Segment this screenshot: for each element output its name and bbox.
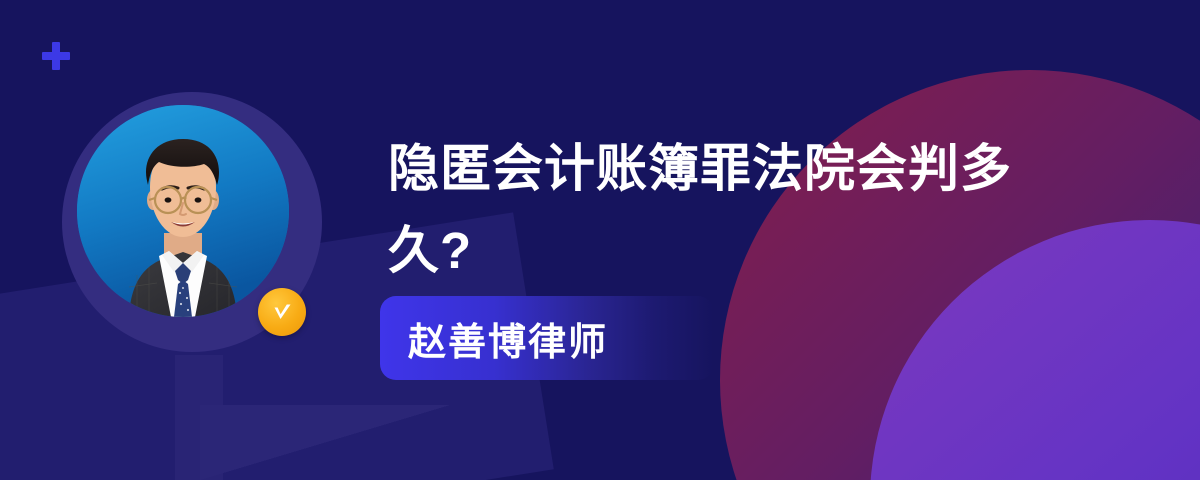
lawyer-question-banner: 隐匿会计账簿罪法院会判多久? 赵善博律师 [0,0,1200,480]
decorative-vertical-band [175,355,223,480]
decorative-triangle-bottom [200,405,450,480]
page-title: 隐匿会计账簿罪法院会判多久? [388,128,1078,292]
plus-icon-horizontal-bar [42,52,70,60]
lawyer-name-label: 赵善博律师 [408,311,608,366]
verified-check-icon [258,288,306,336]
lawyer-name-badge[interactable]: 赵善博律师 [380,296,714,380]
avatar[interactable] [62,92,322,352]
avatar-photo [77,105,289,317]
plus-icon [42,42,70,70]
plus-icon-vertical-bar [52,42,60,70]
